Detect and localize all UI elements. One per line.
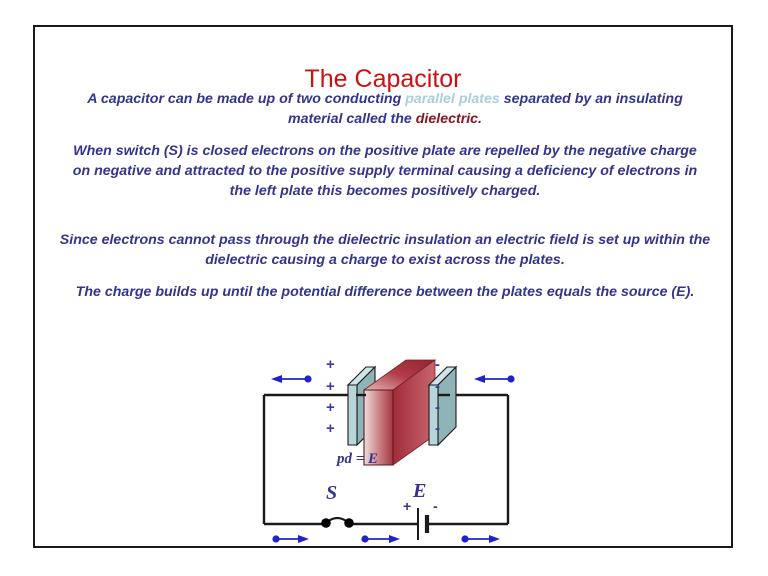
paragraph-definition: A capacitor can be made up of two conduc… xyxy=(63,89,707,129)
dielectric-slab xyxy=(364,360,435,465)
paragraph-electric-field: Since electrons cannot pass through the … xyxy=(57,230,713,270)
plate-charge-negative-4: - xyxy=(435,421,440,436)
battery-positive-sign: + xyxy=(403,498,411,514)
capacitor-plate-left xyxy=(348,367,375,445)
electron-flow-arrows-top xyxy=(271,375,515,383)
switch-contact-left xyxy=(321,518,331,528)
plate-charge-positive-2: + xyxy=(326,379,335,394)
paragraph-switch-closed: When switch (S) is closed electrons on t… xyxy=(63,141,707,201)
slide-frame: The Capacitor A capacitor can be made up… xyxy=(33,25,733,548)
capacitor-plate-right xyxy=(429,367,456,445)
emf-label: E xyxy=(413,480,426,503)
paragraph-1-part-a: A capacitor can be made up of two conduc… xyxy=(87,91,405,107)
parallel-plates-highlight: parallel plates xyxy=(405,91,500,107)
battery-negative-sign: - xyxy=(433,498,438,514)
switch-label: S xyxy=(326,482,337,505)
battery-symbol xyxy=(418,508,427,540)
paragraph-charge-builds: The charge builds up until the potential… xyxy=(57,282,713,302)
plate-charge-positive-3: + xyxy=(326,400,335,415)
electron-flow-arrows-bottom xyxy=(272,535,500,543)
plate-charge-negative-3: - xyxy=(435,400,440,415)
dielectric-emphasis: dielectric. xyxy=(416,111,482,127)
plate-charge-negative-2: - xyxy=(435,379,440,394)
switch-contact-right xyxy=(344,518,354,528)
plate-charge-negative-1: - xyxy=(435,357,440,372)
switch-symbol xyxy=(321,518,354,528)
circuit-wire-loop xyxy=(264,395,508,524)
plate-charge-positive-1: + xyxy=(326,357,335,372)
plate-charge-positive-4: + xyxy=(326,421,335,436)
pd-equals-e-label: pd = E xyxy=(337,451,378,468)
